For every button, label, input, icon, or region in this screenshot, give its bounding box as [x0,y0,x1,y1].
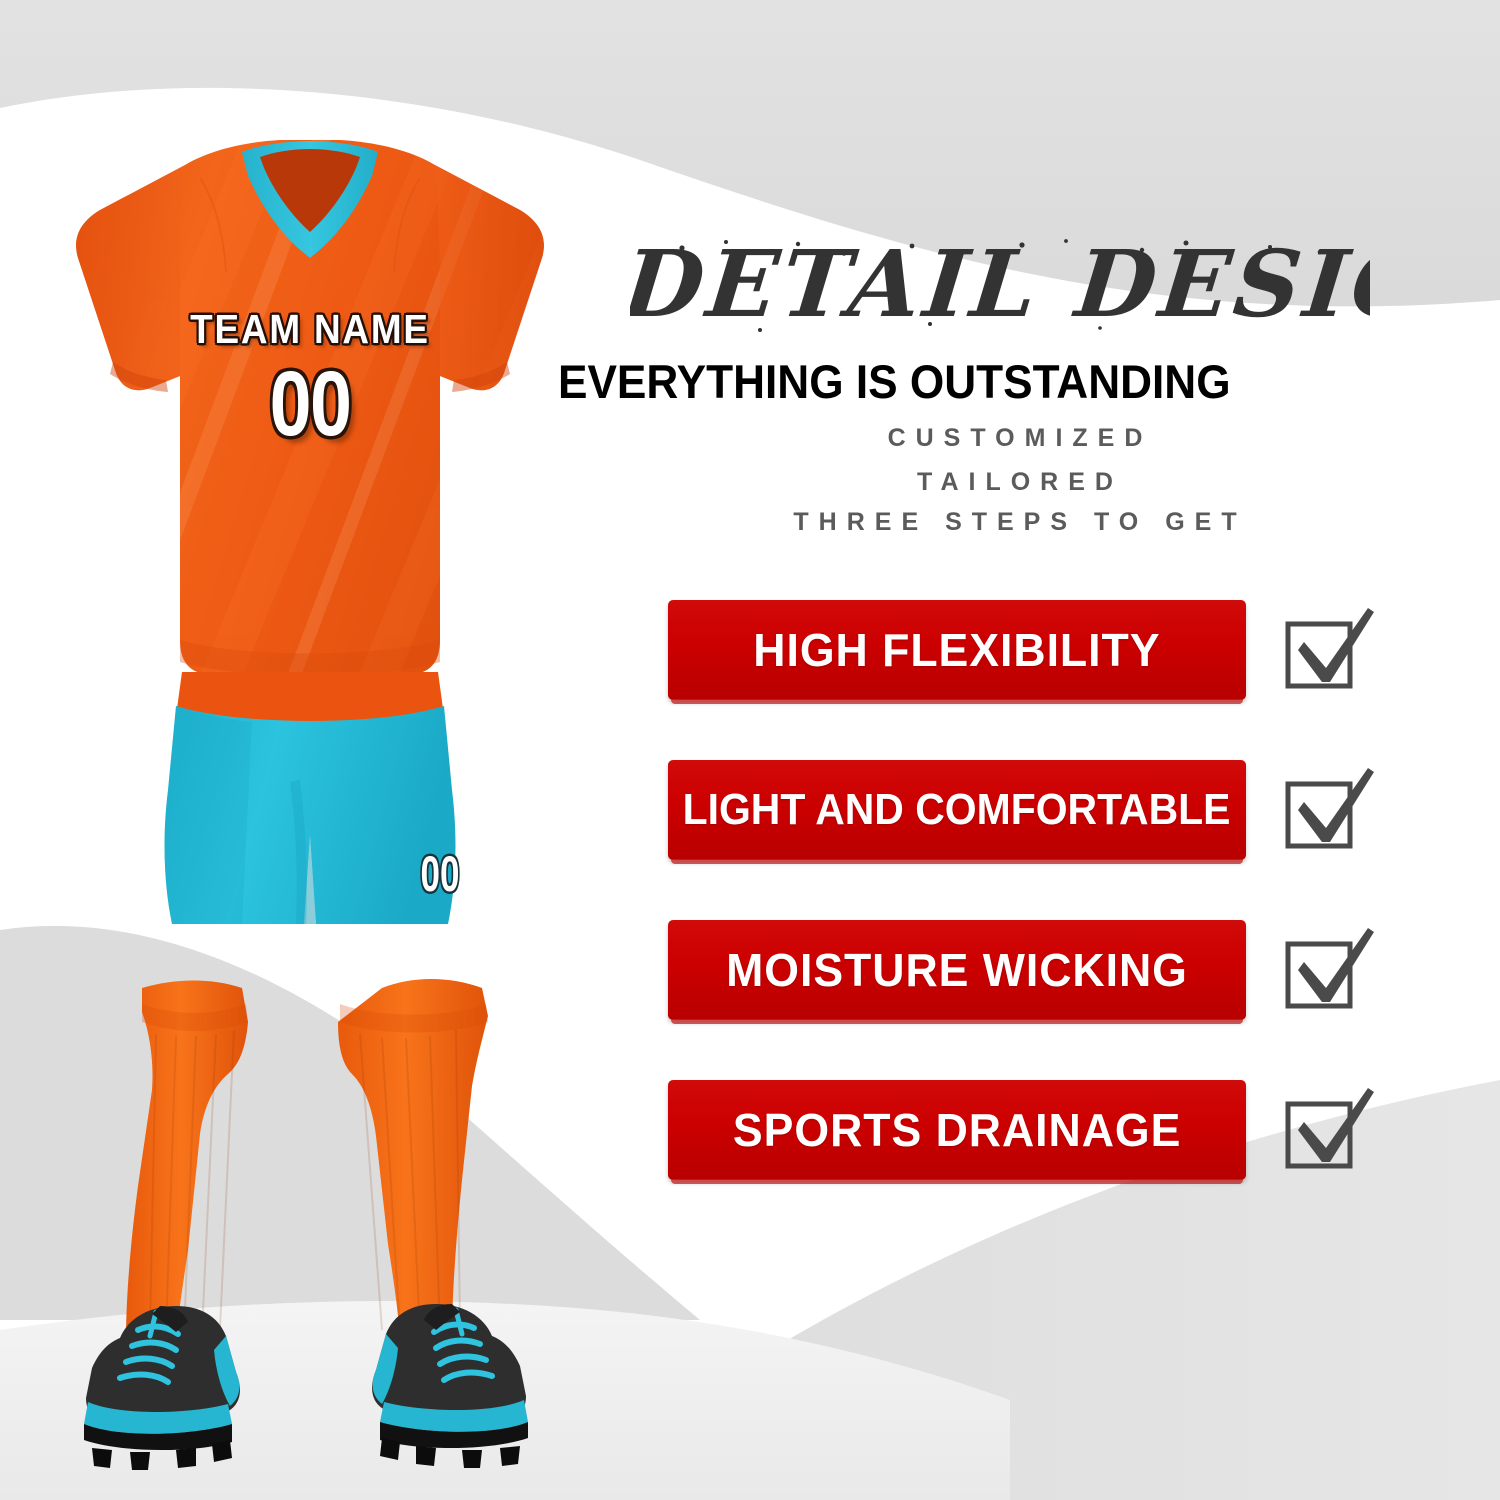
checkbox-checked-icon[interactable] [1282,1086,1374,1178]
detail-design-brush-text: DETAIL DESIGN [630,228,1370,338]
feature-label: HIGH FLEXIBILITY [753,623,1160,677]
feature-row: HIGH FLEXIBILITY [540,600,1500,760]
shorts [165,672,456,924]
feature-row: LIGHT AND COMFORTABLE [540,760,1500,920]
tagline-customized: CUSTOMIZED [540,424,1500,453]
feature-list: HIGH FLEXIBILITY LIGHT AND COMFORTABLE [540,600,1500,1240]
feature-banner-high-flexibility[interactable]: HIGH FLEXIBILITY [668,600,1246,700]
feature-label: SPORTS DRAINAGE [733,1103,1181,1157]
checkbox-checked-icon[interactable] [1282,606,1374,698]
checkbox-checked-icon[interactable] [1282,926,1374,1018]
feature-row: MOISTURE WICKING [540,920,1500,1080]
feature-row: SPORTS DRAINAGE [540,1080,1500,1240]
page-subtitle: EVERYTHING IS OUTSTANDING [558,354,1357,409]
sock-left [126,981,248,1341]
svg-text:DETAIL DESIGN: DETAIL DESIGN [630,229,1370,338]
feature-label: LIGHT AND COMFORTABLE [683,785,1231,835]
cleat-right [372,1304,528,1468]
uniform-illustration [0,0,620,1500]
feature-banner-light-and-comfortable[interactable]: LIGHT AND COMFORTABLE [668,760,1246,860]
socks [126,979,488,1340]
cleat-left [84,1306,240,1470]
feature-banner-sports-drainage[interactable]: SPORTS DRAINAGE [668,1080,1246,1180]
cleats [84,1304,528,1470]
info-panel: DETAIL DESIGN EVERYTHING IS OUTSTANDING … [540,0,1500,1500]
feature-label: MOISTURE WICKING [726,943,1188,997]
jersey [0,120,616,730]
tagline-three-steps: THREE STEPS TO GET [540,508,1500,537]
checkbox-checked-icon[interactable] [1282,766,1374,858]
sock-right [338,979,488,1336]
tagline-tailored: TAILORED [540,468,1500,497]
product-photo: TEAM NAME 00 00 [0,0,620,1500]
page-title: DETAIL DESIGN [630,228,1370,338]
feature-banner-moisture-wicking[interactable]: MOISTURE WICKING [668,920,1246,1020]
